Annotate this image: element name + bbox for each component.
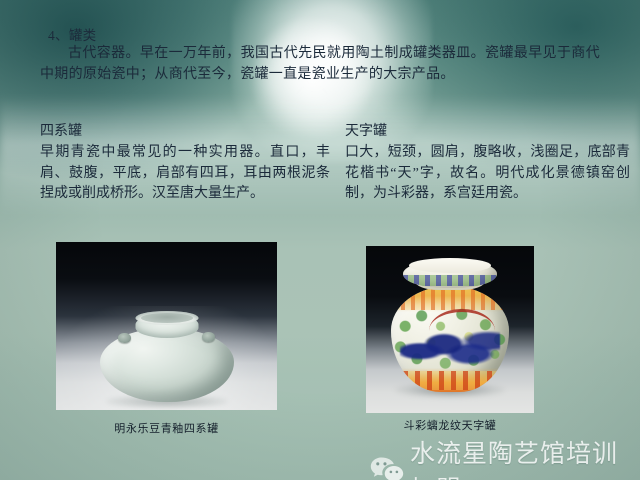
column-body-sixi-jar: 早期青瓷中最常见的一种实用器。直口，丰肩、鼓腹，平底，肩部有四耳，耳由两根泥条捏… <box>40 143 330 205</box>
column-tianzi-jar: 天字罐 口大，短颈，圆肩，腹略收，浅圈足，底部青花楷书“天”字，故名。明代成化景… <box>345 122 630 205</box>
jar-lug-right <box>202 332 215 342</box>
celadon-jar-mouth-opening <box>141 313 193 323</box>
caption-sixi-jar: 明永乐豆青釉四系罐 <box>56 420 277 436</box>
jar-foot-petals <box>391 371 509 390</box>
section-heading: 4、罐类 <box>48 27 96 45</box>
photo-tianzi-jar <box>366 246 534 413</box>
jar-lid-band <box>403 275 497 286</box>
doucai-jar-body <box>391 286 509 392</box>
wechat-icon <box>370 456 404 480</box>
watermark: 水流星陶艺馆培训加盟 <box>370 434 640 480</box>
column-title-tianzi-jar: 天字罐 <box>345 122 630 142</box>
jar-lid-top-face <box>409 258 491 273</box>
column-title-sixi-jar: 四系罐 <box>40 122 330 142</box>
watermark-text: 水流星陶艺馆培训加盟 <box>410 434 640 480</box>
jar-lug-left <box>118 333 131 343</box>
caption-tianzi-jar: 斗彩螭龙纹天字罐 <box>366 417 534 433</box>
photo-sixi-jar <box>56 242 277 410</box>
column-body-tianzi-jar: 口大，短颈，圆肩，腹略收，浅圈足，底部青花楷书“天”字，故名。明代成化景德镇窑创… <box>345 143 630 205</box>
intro-paragraph: 古代容器。早在一万年前，我国古代先民就用陶土制成罐类器皿。瓷罐最早见于商代中期的… <box>40 44 600 85</box>
column-sixi-jar: 四系罐 早期青瓷中最常见的一种实用器。直口，丰肩、鼓腹，平底，肩部有四耳，耳由两… <box>40 122 330 205</box>
presentation-slide: 4、罐类 古代容器。早在一万年前，我国古代先民就用陶土制成罐类器皿。瓷罐最早见于… <box>0 0 640 480</box>
